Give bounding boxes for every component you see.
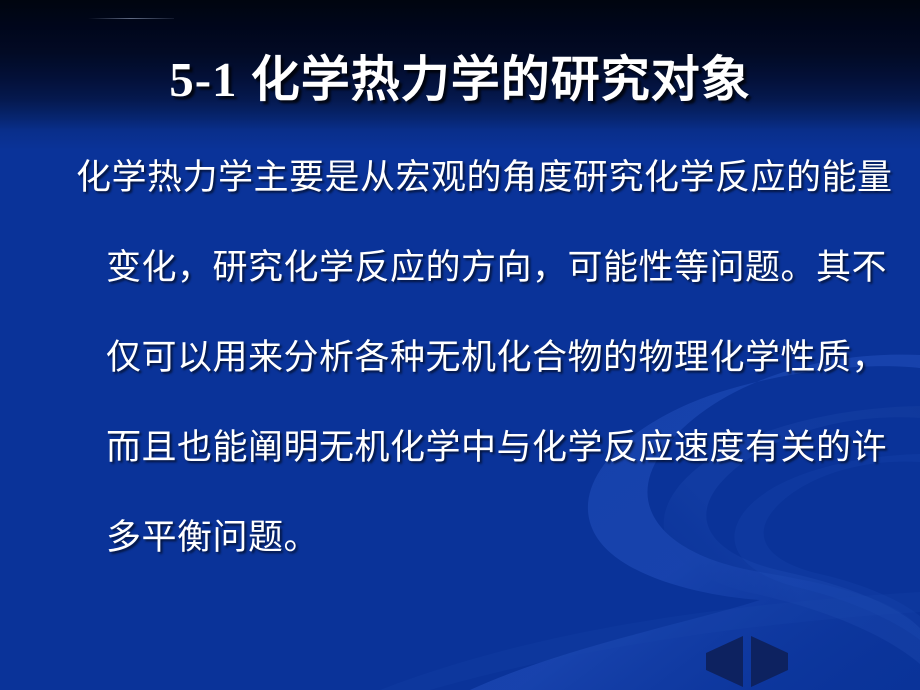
body-line: 多平衡问题。 <box>62 493 872 583</box>
previous-slide-arrow-icon[interactable] <box>706 653 743 671</box>
next-slide-arrow-icon[interactable] <box>751 653 788 671</box>
slide-title: 5-1 化学热力学的研究对象 <box>0 49 920 110</box>
slide-body-text: 化学热力学主要是从宏观的角度研究化学反应的能量 变化，研究化学反应的方向，可能性… <box>62 133 872 583</box>
body-line: 化学热力学主要是从宏观的角度研究化学反应的能量 <box>62 133 872 223</box>
body-line: 变化，研究化学反应的方向，可能性等问题。其不 <box>62 223 872 313</box>
slide-navigation <box>706 653 788 671</box>
body-line: 仅可以用来分析各种无机化合物的物理化学性质， <box>62 313 872 403</box>
body-line: 而且也能阐明无机化学中与化学反应速度有关的许 <box>62 403 872 493</box>
title-decorative-rule <box>88 18 174 19</box>
presentation-slide: 5-1 化学热力学的研究对象 化学热力学主要是从宏观的角度研究化学反应的能量 变… <box>0 0 920 690</box>
